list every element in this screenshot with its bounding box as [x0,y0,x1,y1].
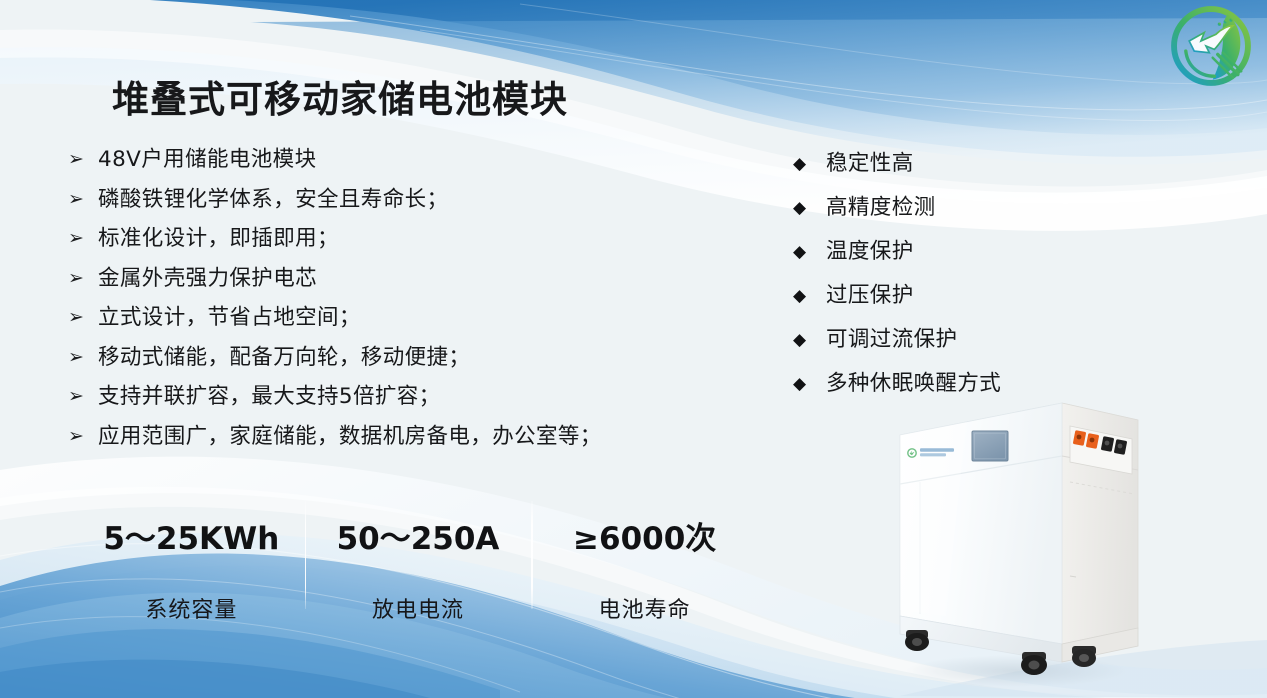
arrow-bullet-icon: ➢ [68,225,98,252]
list-item: ➢ 支持并联扩容，最大支持5倍扩容； [68,383,708,410]
list-item: ◆ 温度保护 [793,238,1073,266]
diamond-bullet-icon: ◆ [793,238,826,266]
stat-value: ≥6000次 [573,513,716,558]
list-item: ◆ 高精度检测 [793,194,1073,222]
left-feature-list: ➢ 48V户用储能电池模块 ➢ 磷酸铁锂化学体系，安全且寿命长； ➢ 标准化设计… [68,146,708,462]
stat-value: 50～250A [337,513,500,558]
spec-stats-row: 5～25KWh 系统容量 50～250A 放电电流 ≥6000次 电池寿命 [78,505,758,620]
stat-battery-life: ≥6000次 电池寿命 [531,505,758,620]
feature-text: 支持并联扩容，最大支持5倍扩容； [98,383,441,410]
list-item: ➢ 金属外壳强力保护电芯 [68,265,708,292]
list-item: ◆ 过压保护 [793,282,1073,310]
list-item: ➢ 应用范围广，家庭储能，数据机房备电，办公室等； [68,423,708,450]
stat-label: 电池寿命 [599,592,691,624]
feature-text: 移动式储能，配备万向轮，移动便捷； [98,344,470,371]
feature-text: 标准化设计，即插即用； [98,225,339,252]
feature-text: 温度保护 [826,238,914,266]
stat-value: 5～25KWh [103,513,279,558]
feature-text: 立式设计，节省占地空间； [98,304,361,331]
list-item: ◆ 可调过流保护 [793,326,1073,354]
list-item: ➢ 标准化设计，即插即用； [68,225,708,252]
arrow-bullet-icon: ➢ [68,265,98,292]
battery-cabinet-illustration [876,390,1156,690]
arrow-bullet-icon: ➢ [68,383,98,410]
arrow-bullet-icon: ➢ [68,423,98,450]
feature-text: 可调过流保护 [826,326,957,354]
arrow-bullet-icon: ➢ [68,146,98,173]
list-item: ➢ 磷酸铁锂化学体系，安全且寿命长； [68,186,708,213]
list-item: ➢ 移动式储能，配备万向轮，移动便捷； [68,344,708,371]
list-item: ➢ 立式设计，节省占地空间； [68,304,708,331]
company-logo [1169,4,1253,88]
caster-wheel [1072,646,1096,667]
feature-text: 高精度检测 [826,194,936,222]
diamond-bullet-icon: ◆ [793,326,826,354]
arrow-bullet-icon: ➢ [68,186,98,213]
feature-text: 金属外壳强力保护电芯 [98,265,317,292]
diamond-bullet-icon: ◆ [793,194,826,222]
caster-wheel [905,630,929,651]
list-item: ◆ 稳定性高 [793,150,1073,178]
arrow-bullet-icon: ➢ [68,304,98,331]
list-item: ➢ 48V户用储能电池模块 [68,146,708,173]
slide-canvas: 堆叠式可移动家储电池模块 ➢ 48V户用储能电池模块 ➢ 磷酸铁锂化学体系，安全… [0,0,1267,698]
arrow-bullet-icon: ➢ [68,344,98,371]
feature-text: 48V户用储能电池模块 [98,146,316,173]
diamond-bullet-icon: ◆ [793,282,826,310]
stat-label: 放电电流 [372,592,464,624]
stat-system-capacity: 5～25KWh 系统容量 [78,505,305,620]
stat-label: 系统容量 [145,592,237,624]
feature-text: 应用范围广，家庭储能，数据机房备电，办公室等； [98,423,602,450]
feature-text: 磷酸铁锂化学体系，安全且寿命长； [98,186,448,213]
diamond-bullet-icon: ◆ [793,150,826,178]
stat-discharge-current: 50～250A 放电电流 [305,505,532,620]
feature-text: 过压保护 [826,282,914,310]
feature-text: 稳定性高 [826,150,914,178]
right-feature-list: ◆ 稳定性高 ◆ 高精度检测 ◆ 温度保护 ◆ 过压保护 ◆ 可调过流保护 ◆ … [793,150,1073,414]
page-title: 堆叠式可移动家储电池模块 [112,77,568,123]
leaf-circuit-logo-icon [1169,4,1253,88]
product-image [876,390,1156,690]
diamond-bullet-icon: ◆ [793,370,826,398]
caster-wheel [1021,652,1047,675]
